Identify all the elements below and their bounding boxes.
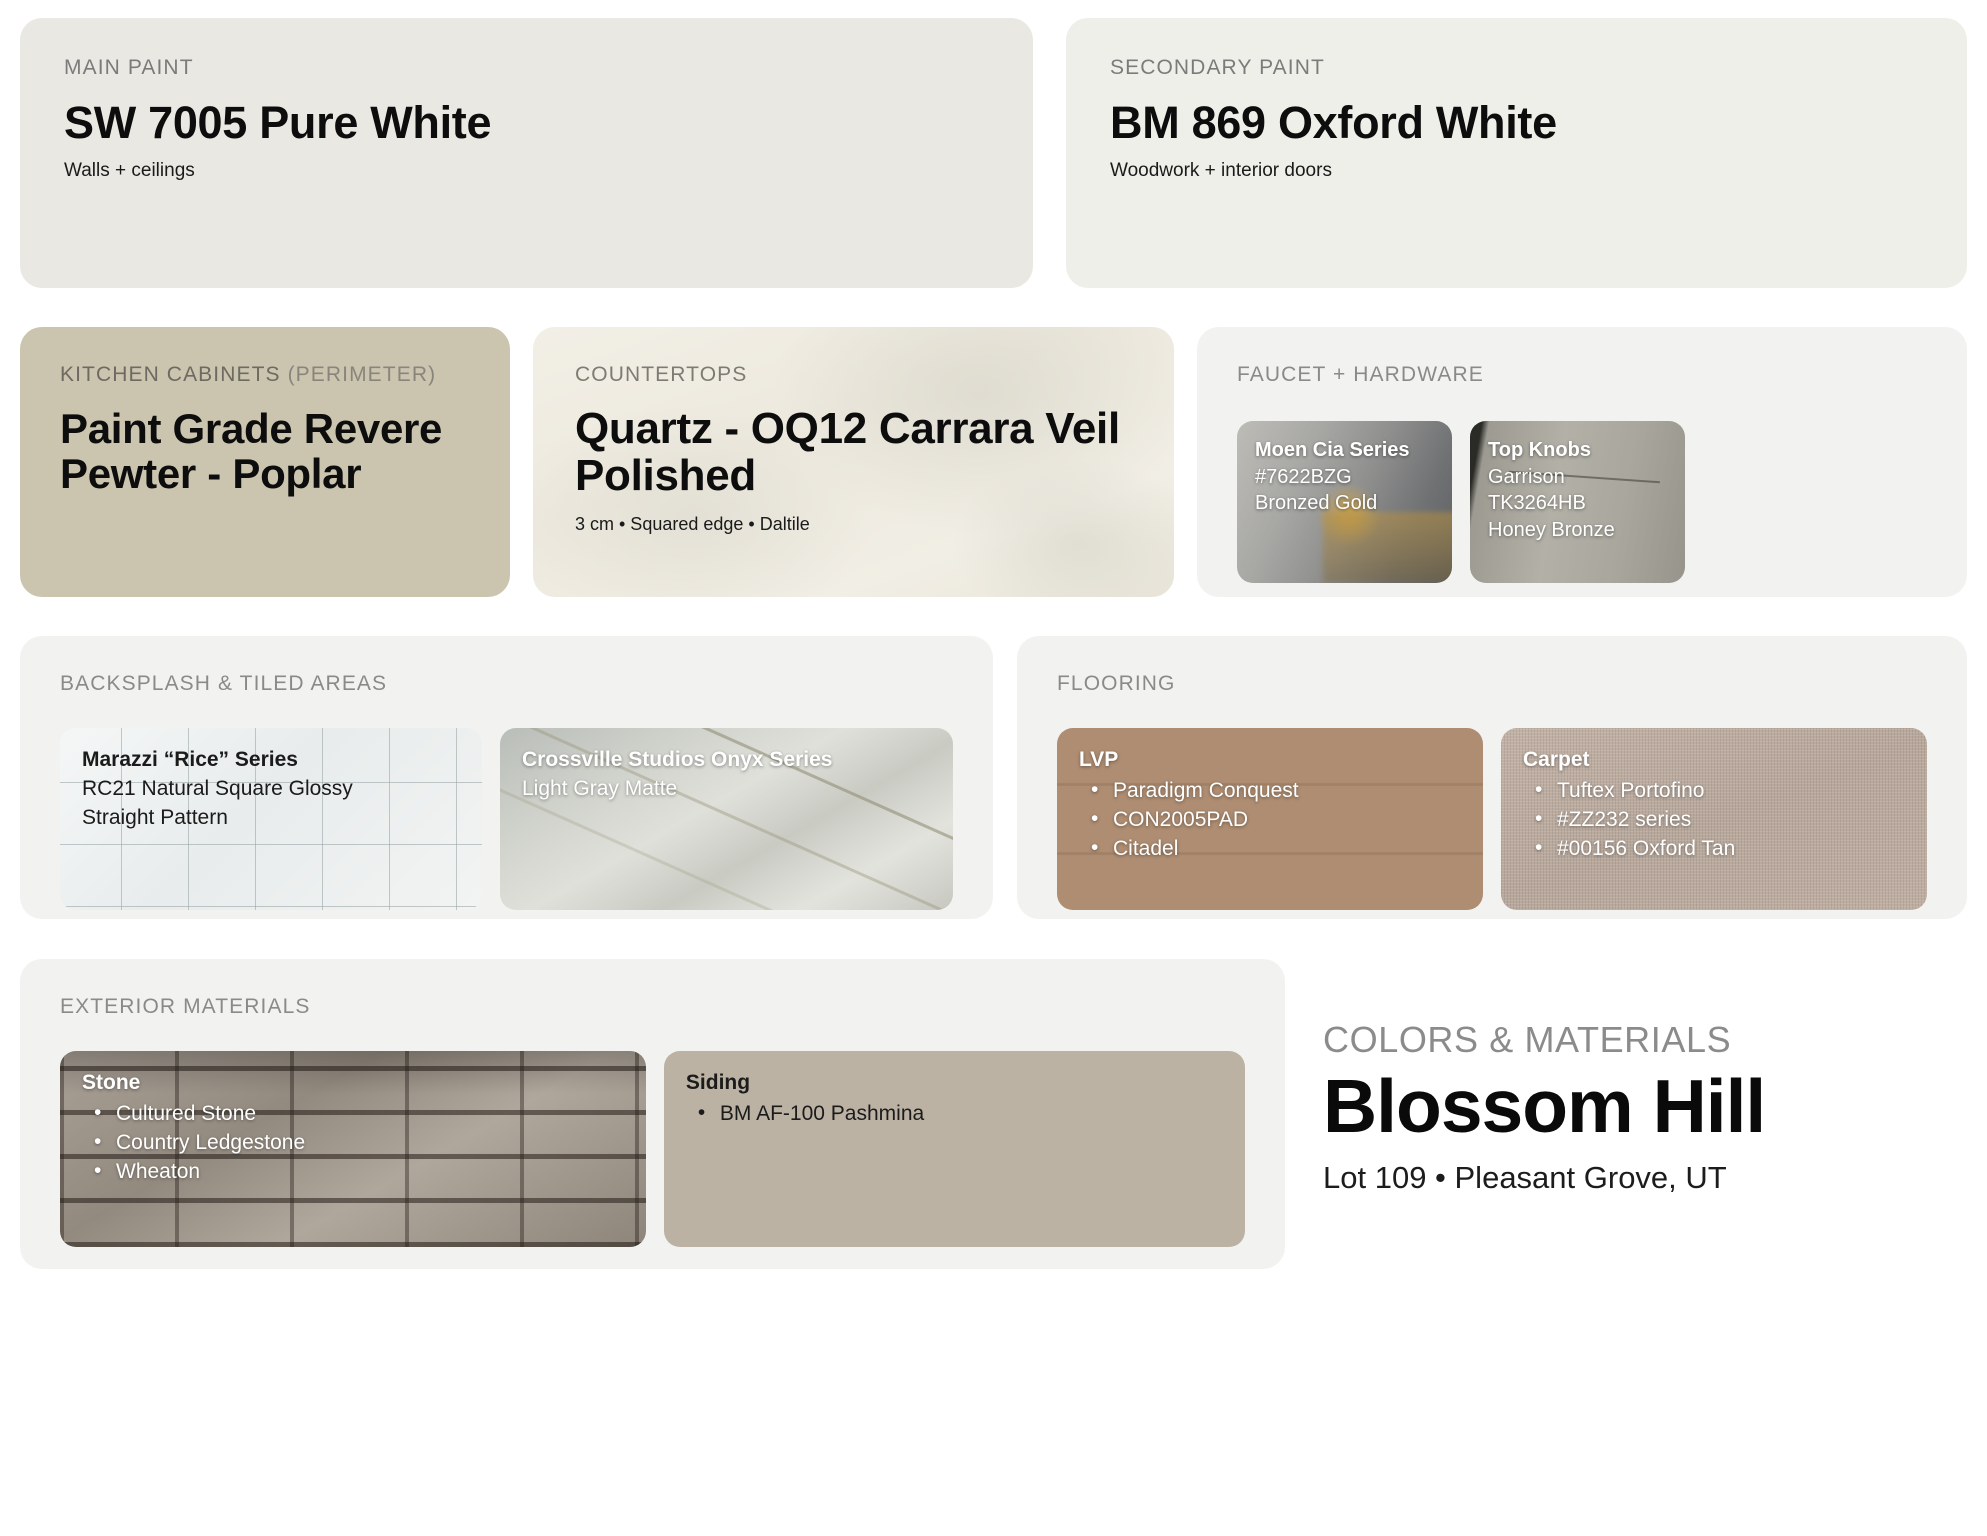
knobs-brand: Top Knobs bbox=[1488, 439, 1591, 461]
faucet-line-2: Bronzed Gold bbox=[1255, 492, 1377, 514]
exterior-eyebrow: EXTERIOR MATERIALS bbox=[60, 995, 1245, 1019]
main-paint-eyebrow: MAIN PAINT bbox=[64, 56, 989, 80]
flooring-swatches: LVP Paradigm Conquest CON2005PAD Citadel… bbox=[1057, 728, 1927, 910]
paint-row: MAIN PAINT SW 7005 Pure White Walls + ce… bbox=[20, 18, 1967, 288]
hardware-tiles: Moen Cia Series #7622BZG Bronzed Gold To… bbox=[1237, 421, 1927, 583]
stone-bullet-3: Wheaton bbox=[82, 1158, 624, 1187]
carpet-bullet-list: Tuftex Portofino #ZZ232 series #00156 Ox… bbox=[1523, 777, 1905, 864]
backsplash-eyebrow: BACKSPLASH & TILED AREAS bbox=[60, 672, 953, 696]
countertops-name: Quartz - OQ12 Carrara Veil Polished bbox=[575, 406, 1132, 499]
swatch-siding[interactable]: Siding BM AF-100 Pashmina bbox=[664, 1051, 1245, 1247]
swatch-lvp[interactable]: LVP Paradigm Conquest CON2005PAD Citadel bbox=[1057, 728, 1483, 910]
board-subtitle: Lot 109 • Pleasant Grove, UT bbox=[1323, 1160, 1957, 1196]
siding-bullet-1: BM AF-100 Pashmina bbox=[686, 1100, 1223, 1129]
card-exterior-materials[interactable]: EXTERIOR MATERIALS Stone Cultured Stone … bbox=[20, 959, 1285, 1269]
title-block: COLORS & MATERIALS Blossom Hill Lot 109 … bbox=[1309, 959, 1967, 1269]
swatch-stone[interactable]: Stone Cultured Stone Country Ledgestone … bbox=[60, 1051, 646, 1247]
crossville-line-1: Light Gray Matte bbox=[522, 777, 677, 800]
lvp-bullet-list: Paradigm Conquest CON2005PAD Citadel bbox=[1079, 777, 1461, 864]
faucet-tile-text: Moen Cia Series #7622BZG Bronzed Gold bbox=[1255, 437, 1434, 517]
swatch-crossville-onyx[interactable]: Crossville Studios Onyx Series Light Gra… bbox=[500, 728, 953, 910]
main-paint-note: Walls + ceilings bbox=[64, 160, 989, 182]
lvp-brand: LVP bbox=[1079, 748, 1118, 771]
card-kitchen-cabinets[interactable]: KITCHEN CABINETS (PERIMETER) Paint Grade… bbox=[20, 327, 510, 597]
board-eyebrow: COLORS & MATERIALS bbox=[1323, 1019, 1957, 1061]
stone-brand: Stone bbox=[82, 1071, 140, 1094]
carpet-bullet-3: #00156 Oxford Tan bbox=[1523, 835, 1905, 864]
knobs-line-1: Garrison bbox=[1488, 466, 1565, 488]
main-paint-name: SW 7005 Pure White bbox=[64, 99, 989, 147]
countertops-note: 3 cm • Squared edge • Daltile bbox=[575, 514, 1132, 535]
knobs-line-2: TK3264HB bbox=[1488, 492, 1586, 514]
knobs-line-3: Honey Bronze bbox=[1488, 519, 1615, 541]
exterior-title-row: EXTERIOR MATERIALS Stone Cultured Stone … bbox=[20, 959, 1967, 1269]
stone-bullet-2: Country Ledgestone bbox=[82, 1129, 624, 1158]
crossville-brand: Crossville Studios Onyx Series bbox=[522, 748, 832, 771]
carpet-bullet-1: Tuftex Portofino bbox=[1523, 777, 1905, 806]
siding-brand: Siding bbox=[686, 1071, 750, 1094]
board-title: Blossom Hill bbox=[1323, 1067, 1957, 1146]
flooring-eyebrow: FLOORING bbox=[1057, 672, 1927, 696]
card-faucet-hardware[interactable]: FAUCET + HARDWARE Moen Cia Series #7622B… bbox=[1197, 327, 1967, 597]
faucet-line-1: #7622BZG bbox=[1255, 466, 1352, 488]
cabinets-eyebrow-main: KITCHEN CABINETS bbox=[60, 363, 281, 386]
lvp-bullet-3: Citadel bbox=[1079, 835, 1461, 864]
marazzi-line-1: RC21 Natural Square Glossy bbox=[82, 777, 353, 800]
card-main-paint[interactable]: MAIN PAINT SW 7005 Pure White Walls + ce… bbox=[20, 18, 1033, 288]
carpet-bullet-2: #ZZ232 series bbox=[1523, 806, 1905, 835]
crossville-text: Crossville Studios Onyx Series Light Gra… bbox=[522, 746, 931, 804]
swatch-carpet[interactable]: Carpet Tuftex Portofino #ZZ232 series #0… bbox=[1501, 728, 1927, 910]
card-countertops[interactable]: COUNTERTOPS Quartz - OQ12 Carrara Veil P… bbox=[533, 327, 1174, 597]
card-flooring[interactable]: FLOORING LVP Paradigm Conquest CON2005PA… bbox=[1017, 636, 1967, 919]
faucet-eyebrow: FAUCET + HARDWARE bbox=[1237, 363, 1927, 387]
hardware-tile-faucet[interactable]: Moen Cia Series #7622BZG Bronzed Gold bbox=[1237, 421, 1452, 583]
stone-bullet-list: Cultured Stone Country Ledgestone Wheato… bbox=[82, 1100, 624, 1187]
card-backsplash[interactable]: BACKSPLASH & TILED AREAS Marazzi “Rice” … bbox=[20, 636, 993, 919]
carpet-brand: Carpet bbox=[1523, 748, 1590, 771]
faucet-brand: Moen Cia Series bbox=[1255, 439, 1410, 461]
lvp-bullet-2: CON2005PAD bbox=[1079, 806, 1461, 835]
stone-bullet-1: Cultured Stone bbox=[82, 1100, 624, 1129]
lvp-bullet-1: Paradigm Conquest bbox=[1079, 777, 1461, 806]
cabinets-eyebrow-sub: (PERIMETER) bbox=[288, 363, 437, 386]
materials-board: MAIN PAINT SW 7005 Pure White Walls + ce… bbox=[0, 0, 1987, 1536]
backsplash-swatches: Marazzi “Rice” Series RC21 Natural Squar… bbox=[60, 728, 953, 910]
carpet-text: Carpet Tuftex Portofino #ZZ232 series #0… bbox=[1523, 746, 1905, 864]
secondary-paint-name: BM 869 Oxford White bbox=[1110, 99, 1923, 147]
knobs-tile-text: Top Knobs Garrison TK3264HB Honey Bronze bbox=[1488, 437, 1667, 543]
backsplash-flooring-row: BACKSPLASH & TILED AREAS Marazzi “Rice” … bbox=[20, 636, 1967, 919]
card-secondary-paint[interactable]: SECONDARY PAINT BM 869 Oxford White Wood… bbox=[1066, 18, 1967, 288]
secondary-paint-note: Woodwork + interior doors bbox=[1110, 160, 1923, 182]
hardware-tile-knobs[interactable]: Top Knobs Garrison TK3264HB Honey Bronze bbox=[1470, 421, 1685, 583]
marazzi-text: Marazzi “Rice” Series RC21 Natural Squar… bbox=[82, 746, 460, 833]
lvp-text: LVP Paradigm Conquest CON2005PAD Citadel bbox=[1079, 746, 1461, 864]
cabinets-name: Paint Grade Revere Pewter - Poplar bbox=[60, 407, 470, 496]
cabinets-counters-hardware-row: KITCHEN CABINETS (PERIMETER) Paint Grade… bbox=[20, 327, 1967, 597]
stone-text: Stone Cultured Stone Country Ledgestone … bbox=[82, 1069, 624, 1187]
exterior-swatches: Stone Cultured Stone Country Ledgestone … bbox=[60, 1051, 1245, 1247]
siding-text: Siding BM AF-100 Pashmina bbox=[686, 1069, 1223, 1129]
marazzi-line-2: Straight Pattern bbox=[82, 806, 228, 829]
cabinets-eyebrow: KITCHEN CABINETS (PERIMETER) bbox=[60, 363, 470, 387]
swatch-marazzi-rice[interactable]: Marazzi “Rice” Series RC21 Natural Squar… bbox=[60, 728, 482, 910]
marazzi-brand: Marazzi “Rice” Series bbox=[82, 748, 298, 771]
countertops-eyebrow: COUNTERTOPS bbox=[575, 363, 1132, 387]
secondary-paint-eyebrow: SECONDARY PAINT bbox=[1110, 56, 1923, 80]
siding-bullet-list: BM AF-100 Pashmina bbox=[686, 1100, 1223, 1129]
